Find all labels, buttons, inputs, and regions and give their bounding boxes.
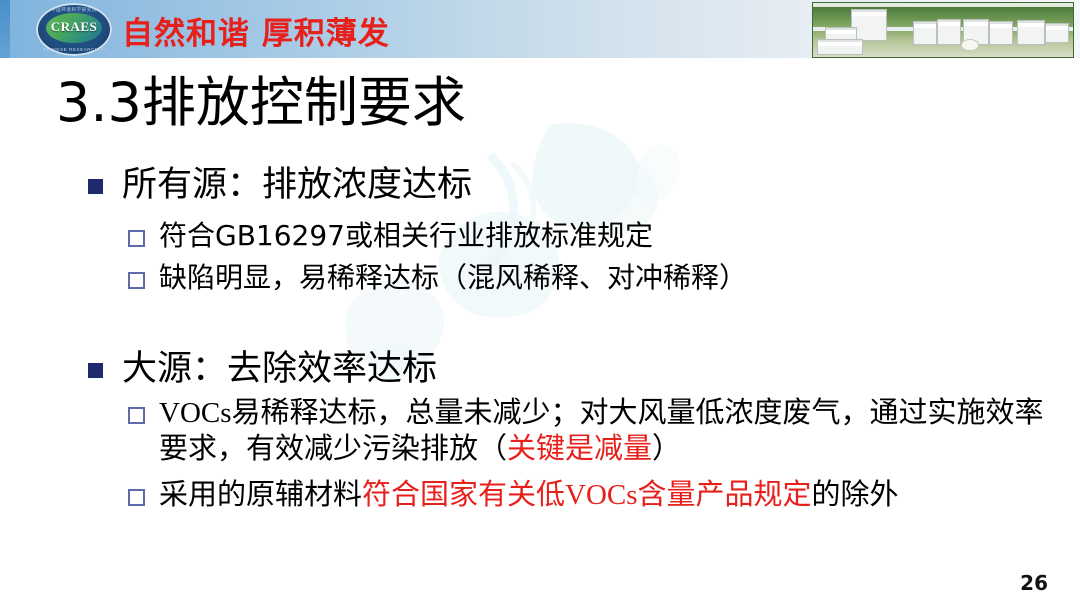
square-bullet-icon [88,363,103,378]
hollow-square-bullet-icon [128,230,145,247]
bullet-level2-label: 符合GB16297或相关行业排放标准规定 [159,219,653,253]
photo-building [989,21,1013,45]
hollow-square-bullet-icon [128,407,145,424]
presentation-slide: 中国环境科学研究院 CRAES CHINESE RESEARCH ACADEMY… [0,0,1080,607]
campus-aerial-photo [812,2,1074,58]
bullet-level2-vocs-reduction: VOCs易稀释达标，总量未减少；对大风量低浓度废气，通过实施效率要求，有效减少污… [128,396,1048,468]
header-slogan-text: 自然和谐 厚积薄发 [122,8,390,53]
logo-arc-top-text: 中国环境科学研究院 [43,7,105,13]
text-black-segment: 的除外 [812,479,899,511]
photo-building [1045,23,1069,43]
slide-page-number: 26 [1020,571,1048,595]
square-bullet-icon [88,179,103,194]
hollow-square-bullet-icon [128,489,145,506]
header-accent-bar [0,0,10,58]
bullet-level2-rich-text: VOCs易稀释达标，总量未减少；对大风量低浓度废气，通过实施效率要求，有效减少污… [159,396,1048,468]
bullet-level2-label: 缺陷明显，易稀释达标（混风稀释、对冲稀释） [159,261,747,295]
bullet-level2-gb-standard: 符合GB16297或相关行业排放标准规定 [128,219,653,253]
photo-building [913,21,937,45]
bullet-level1-all-sources: 所有源：排放浓度达标 [88,165,472,206]
logo-acronym-text: CRAES [36,19,112,35]
text-red-highlight: 关键是减量 [507,433,652,465]
bullet-level2-dilution-defect: 缺陷明显，易稀释达标（混风稀释、对冲稀释） [128,261,747,295]
slide-title: 3.3排放控制要求 [56,58,466,137]
hollow-square-bullet-icon [128,272,145,289]
photo-building [937,19,961,45]
photo-dome [961,39,979,51]
bullet-level1-label: 所有源：排放浓度达标 [122,165,472,206]
photo-building [817,39,863,55]
bullet-level2-rich-text: 采用的原辅材料符合国家有关低VOCs含量产品规定的除外 [159,478,899,514]
photo-building [1017,20,1045,45]
text-black-segment: ） [652,433,681,465]
slide-header-banner: 中国环境科学研究院 CRAES CHINESE RESEARCH ACADEMY… [0,0,1080,58]
bullet-level2-raw-material-exemption: 采用的原辅材料符合国家有关低VOCs含量产品规定的除外 [128,478,1048,514]
text-red-highlight: 符合国家有关低VOCs含量产品规定 [362,479,812,511]
bullet-level1-large-sources: 大源：去除效率达标 [88,349,437,390]
text-black-segment: 采用的原辅材料 [159,479,362,511]
craes-logo: 中国环境科学研究院 CRAES CHINESE RESEARCH ACADEMY… [36,3,112,56]
logo-arc-bottom-text: CHINESE RESEARCH ACADEMY OF ENVIRONMENTA… [43,47,105,52]
bullet-level1-label: 大源：去除效率达标 [122,349,437,390]
